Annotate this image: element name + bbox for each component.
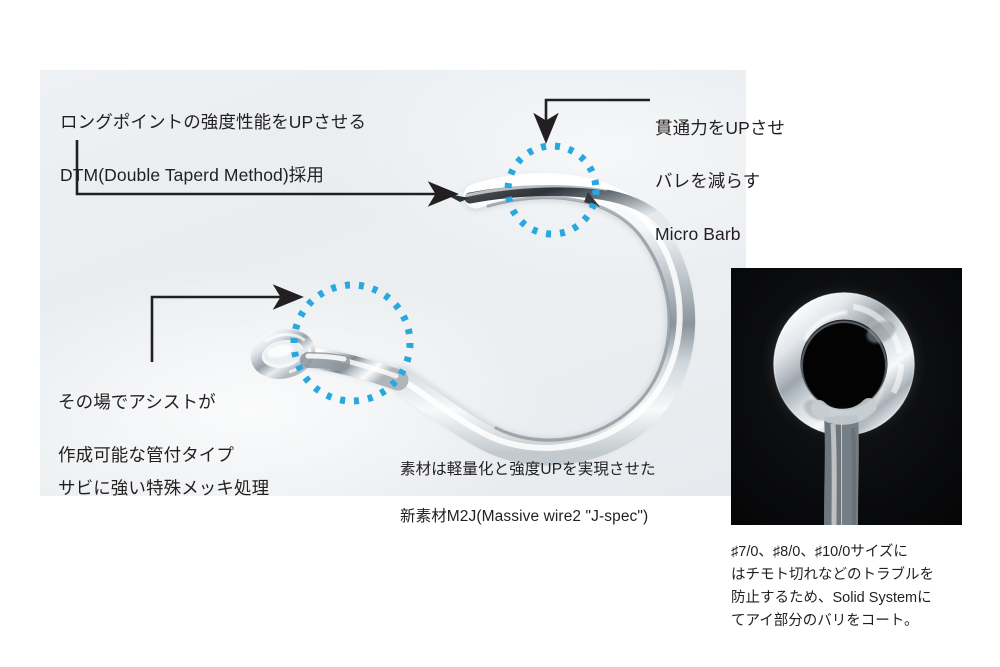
inset-photo-caption: ♯7/0、♯8/0、♯10/0サイズに はチモト切れなどのトラブルを 防止するた… [731, 541, 981, 633]
caption-line: てアイ部分のバリをコート。 [731, 610, 981, 633]
caption-line: ♯7/0、♯8/0、♯10/0サイズに [731, 541, 981, 564]
hook-eye-macro-photo [731, 268, 962, 525]
page-root: ロングポイントの強度性能をUPさせる DTM(Double Taperd Met… [0, 0, 1000, 667]
caption-line: 防止するため、Solid Systemに [731, 587, 981, 610]
callout-line: 新素材M2J(Massive wire2 "J-spec") [400, 505, 760, 528]
callout-line: 素材は軽量化と強度UPを実現させた [400, 458, 760, 481]
rust-resistant-plating-callout: サビに強い特殊メッキ処理 [58, 448, 378, 528]
micro-barb-callout: 貫通力をUPさせ バレを減らす Micro Barb [655, 88, 895, 274]
callout-line: ロングポイントの強度性能をUPさせる [60, 109, 480, 136]
callout-line: 貫通力をUPさせ [655, 115, 895, 142]
hook-eye-macro-illustration [731, 268, 962, 525]
material-m2j-callout: 素材は軽量化と強度UPを実現させた 新素材M2J(Massive wire2 "… [400, 435, 760, 551]
callout-line: Micro Barb [655, 221, 895, 248]
long-point-strength-callout: ロングポイントの強度性能をUPさせる DTM(Double Taperd Met… [60, 82, 480, 215]
caption-line: はチモト切れなどのトラブルを [731, 564, 981, 587]
callout-line: その場でアシストが [58, 389, 358, 416]
callout-line: バレを減らす [655, 168, 895, 195]
callout-line: DTM(Double Taperd Method)採用 [60, 162, 480, 189]
callout-line: サビに強い特殊メッキ処理 [58, 475, 378, 502]
